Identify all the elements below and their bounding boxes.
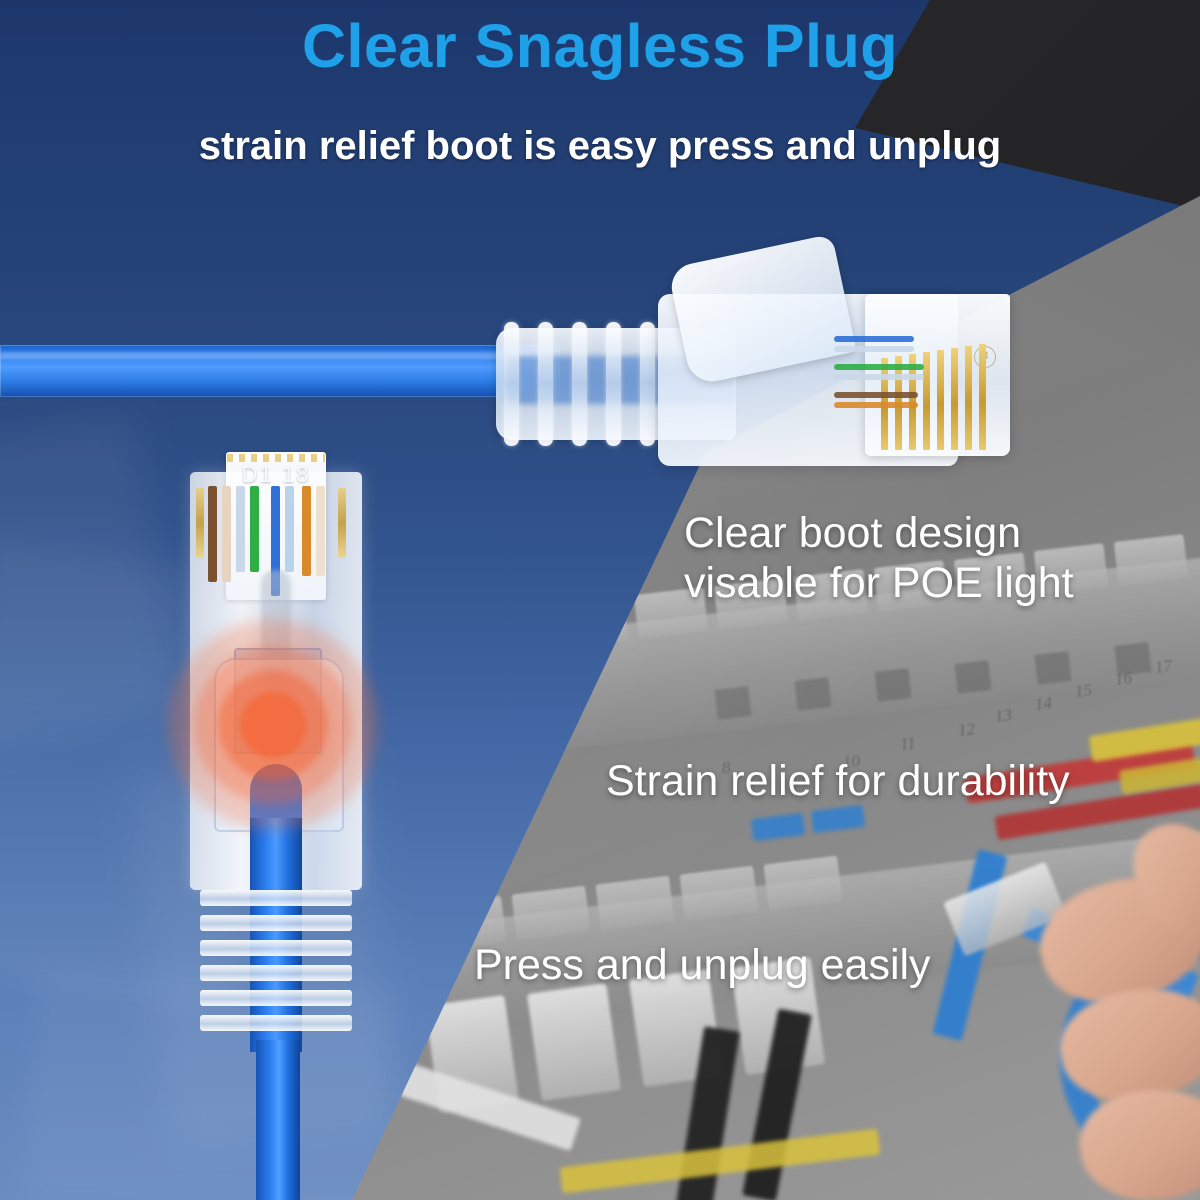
wire-brown	[208, 486, 217, 582]
plug-marking-label: D1 18	[226, 462, 326, 488]
bg-ghost-shape	[0, 413, 184, 747]
page-title: Clear Snagless Plug	[0, 16, 1200, 77]
gold-contacts-row	[227, 454, 325, 462]
page-subtitle: strain relief boot is easy press and unp…	[0, 126, 1200, 166]
rj45-connector-horizontal: 8	[470, 236, 1030, 471]
boot-rib-stack	[200, 890, 352, 1040]
wire-white-green	[834, 374, 924, 380]
cable-highlight	[0, 352, 545, 359]
wire-green	[250, 486, 259, 572]
boot-rib	[572, 322, 587, 446]
boot-rib	[538, 322, 553, 446]
feature-caption-durability: Strain relief for durability	[606, 757, 1200, 807]
wire-white-green	[236, 486, 245, 572]
feature-caption-unplug: Press and unplug easily	[474, 941, 1114, 991]
feature-caption-poe: Clear boot design visable for POE light	[684, 509, 1194, 609]
wire-white-brown	[222, 486, 231, 582]
boot-rib	[640, 322, 655, 446]
blue-ethernet-cable-tail	[256, 1040, 300, 1200]
wire-white-blue	[834, 346, 914, 352]
wire-white-orange	[316, 486, 325, 576]
wire-blue	[834, 336, 914, 342]
wire-orange	[302, 486, 311, 576]
wire-orange	[834, 402, 918, 408]
boot-rib	[504, 322, 519, 446]
product-marketing-image: 8 10 11 12 13 14 15 16 17	[0, 0, 1200, 1200]
boot-rib	[606, 322, 621, 446]
wire-white-blue	[285, 486, 294, 572]
wire-green	[834, 364, 924, 370]
rj45-connector-vertical: D1 18	[178, 452, 374, 1052]
feature-caption-poe-line1: Clear boot design	[684, 509, 1194, 559]
wire-brown	[834, 392, 918, 398]
feature-caption-poe-line2: visable for POE light	[684, 559, 1194, 609]
